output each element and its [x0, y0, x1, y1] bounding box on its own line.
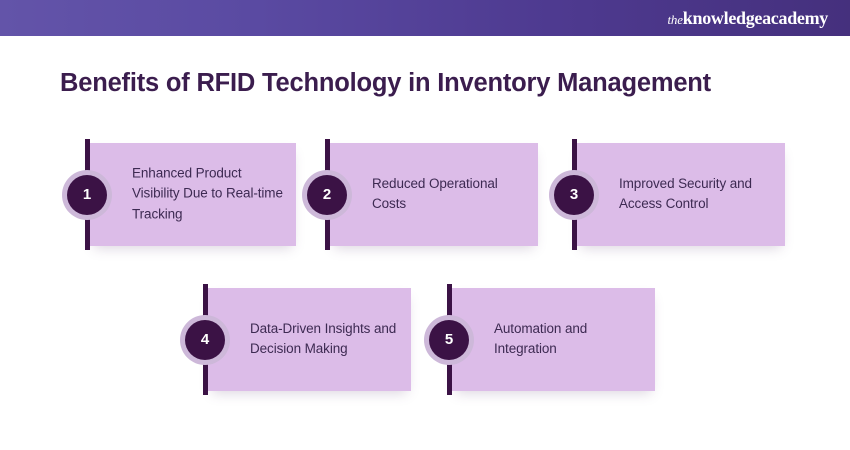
benefit-card-3[interactable]: 3 Improved Security and Access Control [577, 143, 785, 246]
brand-name-text: knowledgeacademy [683, 9, 828, 27]
brand-prefix-text: the [668, 13, 683, 26]
card-number-badge: 2 [307, 175, 347, 215]
card-label: Reduced Operational Costs [372, 174, 528, 216]
card-number-badge: 3 [554, 175, 594, 215]
card-number-badge: 5 [429, 320, 469, 360]
benefit-card-5[interactable]: 5 Automation and Integration [452, 288, 655, 391]
card-number-badge: 4 [185, 320, 225, 360]
brand-logo[interactable]: theknowledgeacademy [668, 9, 829, 27]
card-label: Data-Driven Insights and Decision Making [250, 319, 401, 361]
card-label: Enhanced Product Visibility Due to Real-… [132, 163, 286, 226]
page-title: Benefits of RFID Technology in Inventory… [60, 68, 820, 99]
card-label: Automation and Integration [494, 319, 645, 361]
card-label: Improved Security and Access Control [619, 174, 775, 216]
benefit-card-4[interactable]: 4 Data-Driven Insights and Decision Maki… [208, 288, 411, 391]
card-number-badge: 1 [67, 175, 107, 215]
benefit-card-1[interactable]: 1 Enhanced Product Visibility Due to Rea… [90, 143, 296, 246]
header-band: theknowledgeacademy [0, 0, 850, 36]
benefit-card-2[interactable]: 2 Reduced Operational Costs [330, 143, 538, 246]
